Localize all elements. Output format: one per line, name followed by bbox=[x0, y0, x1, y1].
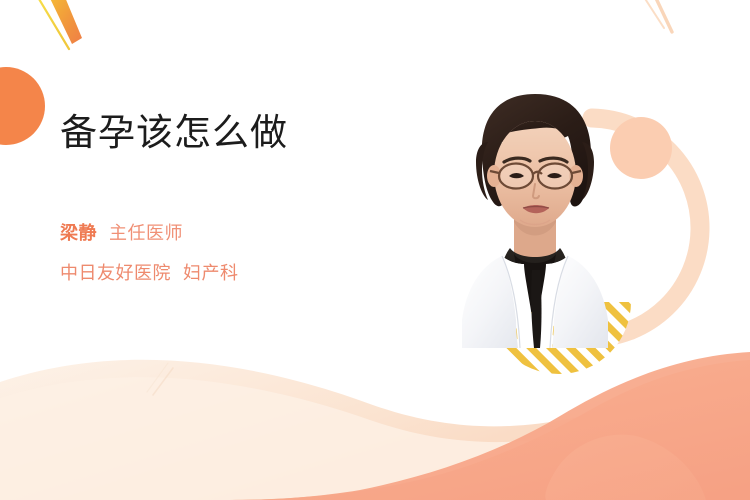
doctor-intro-card: 备孕该怎么做 梁静主任医师 中日友好医院妇产科 bbox=[0, 0, 750, 500]
doctor-title: 主任医师 bbox=[109, 223, 183, 243]
salmon-wave-bottom-right bbox=[210, 352, 750, 500]
doctor-name: 梁静 bbox=[60, 223, 97, 243]
doctor-portrait bbox=[440, 88, 630, 348]
text-block: 备孕该怎么做 梁静主任医师 中日友好医院妇产科 bbox=[60, 110, 440, 288]
cream-wave-highlight bbox=[0, 377, 750, 500]
salmon-lobe-bottom-right bbox=[545, 435, 706, 500]
doctor-department: 妇产科 bbox=[183, 263, 239, 283]
orange-circle-left bbox=[0, 67, 45, 145]
doctor-credit: 梁静主任医师 中日友好医院妇产科 bbox=[60, 220, 440, 288]
doctor-hospital-line: 中日友好医院妇产科 bbox=[60, 260, 440, 288]
doctor-hospital: 中日友好医院 bbox=[60, 263, 171, 283]
peach-diagonal-strokes-top-right bbox=[642, 0, 672, 32]
doctor-name-line: 梁静主任医师 bbox=[60, 220, 440, 248]
orange-diagonal-wedge-top-left bbox=[46, 0, 82, 44]
page-title: 备孕该怎么做 bbox=[60, 110, 440, 156]
cream-wave-bottom bbox=[0, 360, 750, 500]
yellow-diagonal-stroke-top-left bbox=[36, 0, 69, 49]
pale-diagonal-stroke-center bbox=[147, 363, 173, 395]
